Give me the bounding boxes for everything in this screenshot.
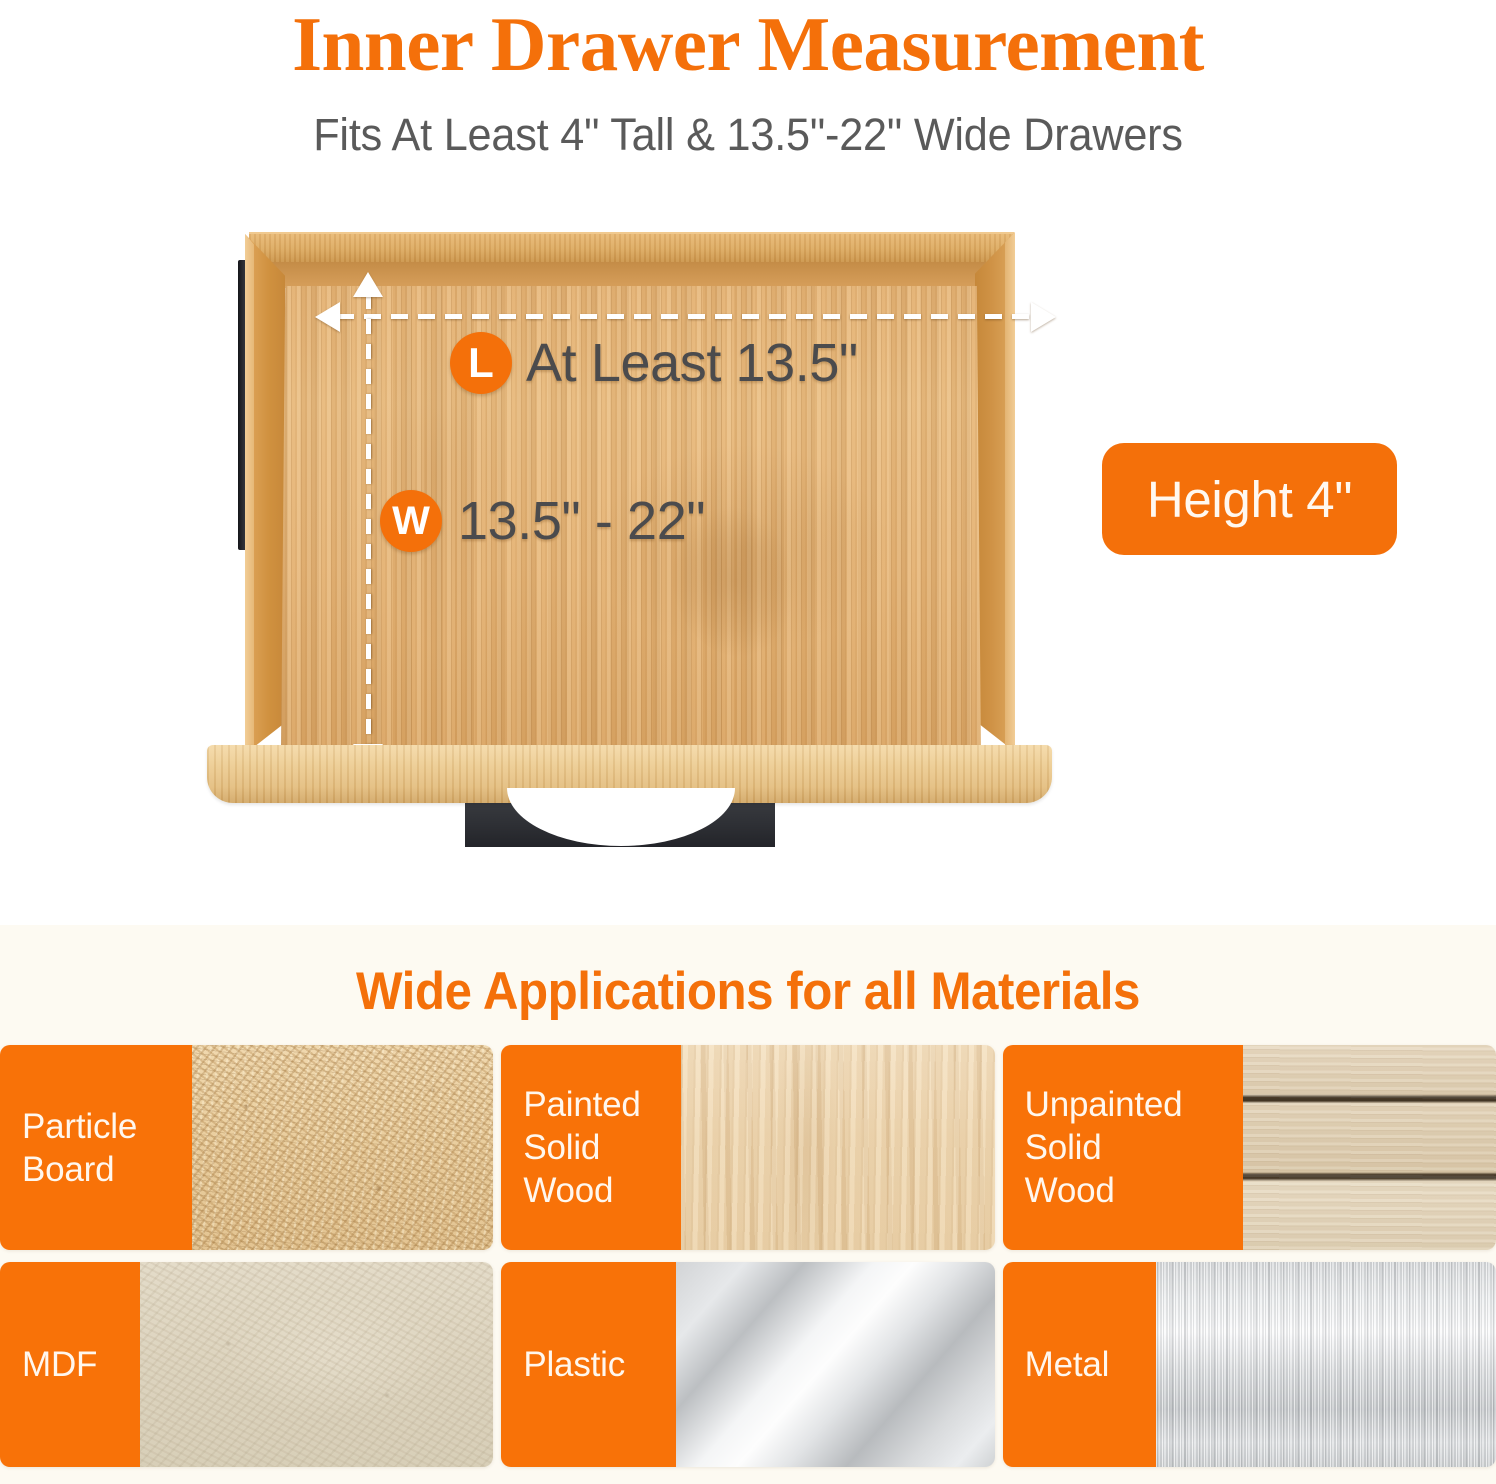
drawer-illustration: L At Least 13.5" W 13.5" - 22"	[195, 232, 1075, 832]
width-badge-icon: W	[380, 490, 442, 552]
arrow-up-icon	[353, 272, 383, 297]
material-tile-painted-solid-wood: PaintedSolidWood	[501, 1045, 994, 1250]
material-label: Plastic	[501, 1262, 676, 1467]
length-guide-line	[337, 314, 1031, 319]
drawer-left-edge	[245, 234, 254, 754]
material-tile-row: ParticleBoard PaintedSolidWood Unpainted…	[0, 1045, 1496, 1250]
material-label: MDF	[0, 1262, 140, 1467]
material-tile-particle-board: ParticleBoard	[0, 1045, 493, 1250]
painted-solid-wood-texture	[681, 1045, 994, 1250]
drawer-right-edge	[1005, 232, 1015, 752]
material-label: UnpaintedSolidWood	[1003, 1045, 1243, 1250]
material-label: Metal	[1003, 1262, 1156, 1467]
material-tiles-grid: ParticleBoard PaintedSolidWood Unpainted…	[0, 1045, 1496, 1479]
length-label: At Least 13.5"	[526, 332, 858, 394]
plastic-texture	[676, 1262, 994, 1467]
material-tile-row: MDF Plastic Metal	[0, 1262, 1496, 1467]
particle-board-texture	[192, 1045, 493, 1250]
metal-texture	[1156, 1262, 1496, 1467]
materials-section: Wide Applications for all Materials Part…	[0, 925, 1496, 1484]
material-tile-metal: Metal	[1003, 1262, 1496, 1467]
measurement-section: Inner Drawer Measurement Fits At Least 4…	[0, 0, 1496, 925]
material-label: PaintedSolidWood	[501, 1045, 681, 1250]
arrow-right-icon	[1031, 302, 1056, 332]
material-tile-mdf: MDF	[0, 1262, 493, 1467]
page-subtitle: Fits At Least 4" Tall & 13.5"-22" Wide D…	[30, 108, 1466, 162]
mdf-texture	[140, 1262, 493, 1467]
unpainted-solid-wood-texture	[1243, 1045, 1496, 1250]
length-badge-icon: L	[450, 332, 512, 394]
material-label: ParticleBoard	[0, 1045, 192, 1250]
material-tile-unpainted-solid-wood: UnpaintedSolidWood	[1003, 1045, 1496, 1250]
height-badge: Height 4"	[1102, 443, 1397, 555]
length-dimension: L At Least 13.5"	[450, 332, 858, 394]
drawer-back-rim	[249, 232, 1014, 262]
width-label: 13.5" - 22"	[458, 490, 705, 552]
width-guide-line	[366, 294, 371, 746]
arrow-left-icon	[315, 302, 340, 332]
materials-section-title: Wide Applications for all Materials	[52, 962, 1443, 1022]
drawer-box: L At Least 13.5" W 13.5" - 22"	[245, 232, 1015, 760]
material-tile-plastic: Plastic	[501, 1262, 994, 1467]
page-title: Inner Drawer Measurement	[0, 2, 1496, 86]
width-dimension: W 13.5" - 22"	[380, 490, 705, 552]
